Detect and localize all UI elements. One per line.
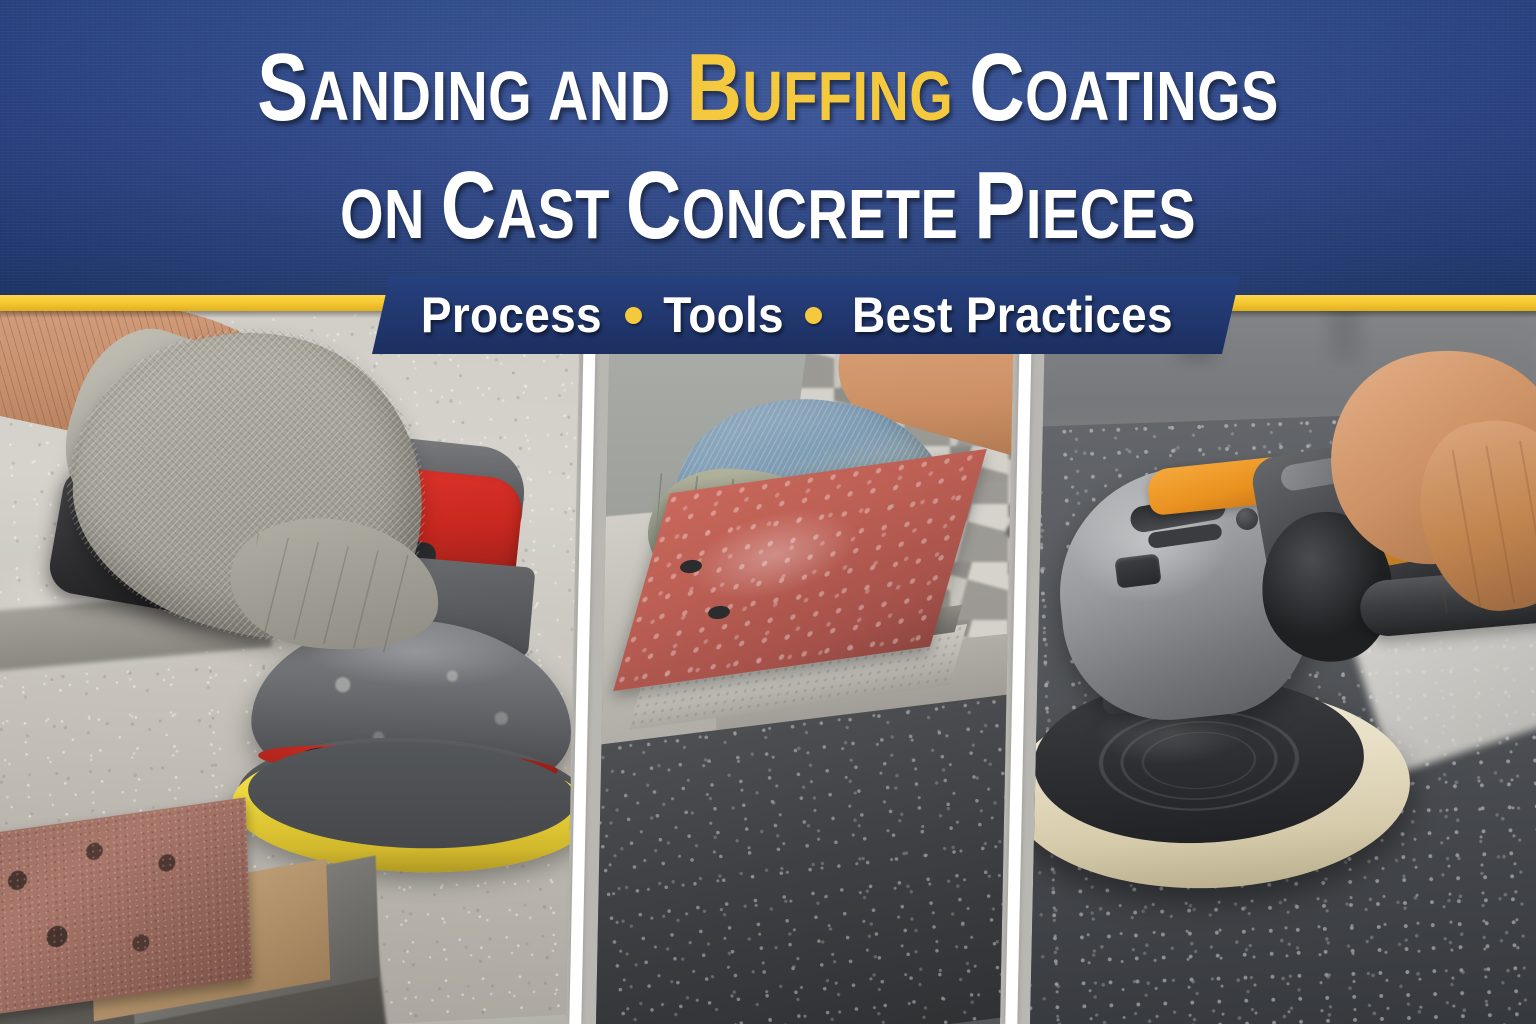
bullet-dot-icon bbox=[625, 307, 642, 324]
title-header: SANDING AND BUFFING COATINGS ON CAST CON… bbox=[0, 0, 1536, 311]
title-l2-cap-c2: C bbox=[626, 152, 682, 259]
title-l1-oatings: OATINGS bbox=[1025, 57, 1279, 135]
polisher-power-button bbox=[1114, 553, 1161, 588]
subtitle-item-tools: Tools bbox=[664, 286, 785, 344]
graphic-canvas: SANDING AND BUFFING COATINGS ON CAST CON… bbox=[0, 0, 1536, 1024]
title-l2-oncrete: ONCRETE bbox=[682, 175, 959, 253]
title-l1-anding: ANDING bbox=[309, 57, 532, 135]
title-l1-and: AND bbox=[548, 57, 671, 135]
bullet-dot-icon bbox=[805, 307, 822, 324]
title-l2-cap-p: P bbox=[974, 152, 1026, 259]
title-l1-space-3 bbox=[953, 57, 969, 135]
page-title-line-2: ON CAST CONCRETE PIECES bbox=[154, 158, 1383, 262]
title-l2-space-2 bbox=[610, 175, 626, 253]
title-l2-on: ON bbox=[340, 175, 425, 253]
title-l1-space-1 bbox=[532, 57, 548, 135]
title-l2-ieces: IECES bbox=[1026, 175, 1196, 253]
title-l2-cap-c: C bbox=[441, 152, 497, 259]
title-l2-ast: AST bbox=[497, 175, 610, 253]
subtitle-item-best-practices: Best Practices bbox=[852, 286, 1173, 344]
title-l1-cap-c: C bbox=[969, 34, 1025, 141]
subtitle-item-process: Process bbox=[421, 286, 602, 344]
title-l1-cap-s: S bbox=[257, 34, 309, 141]
polisher-lock-knob bbox=[1236, 508, 1258, 530]
title-l2-space-3 bbox=[958, 175, 974, 253]
title-l1-space-2 bbox=[671, 57, 687, 135]
title-l2-space-1 bbox=[425, 175, 441, 253]
title-l1-cap-b-highlight: B bbox=[687, 34, 743, 141]
page-title-line-1: SANDING AND BUFFING COATINGS bbox=[154, 40, 1383, 144]
subtitle-text-row: Process Tools Best Practices bbox=[360, 276, 1240, 354]
title-l1-uffing-highlight: UFFING bbox=[742, 57, 953, 135]
